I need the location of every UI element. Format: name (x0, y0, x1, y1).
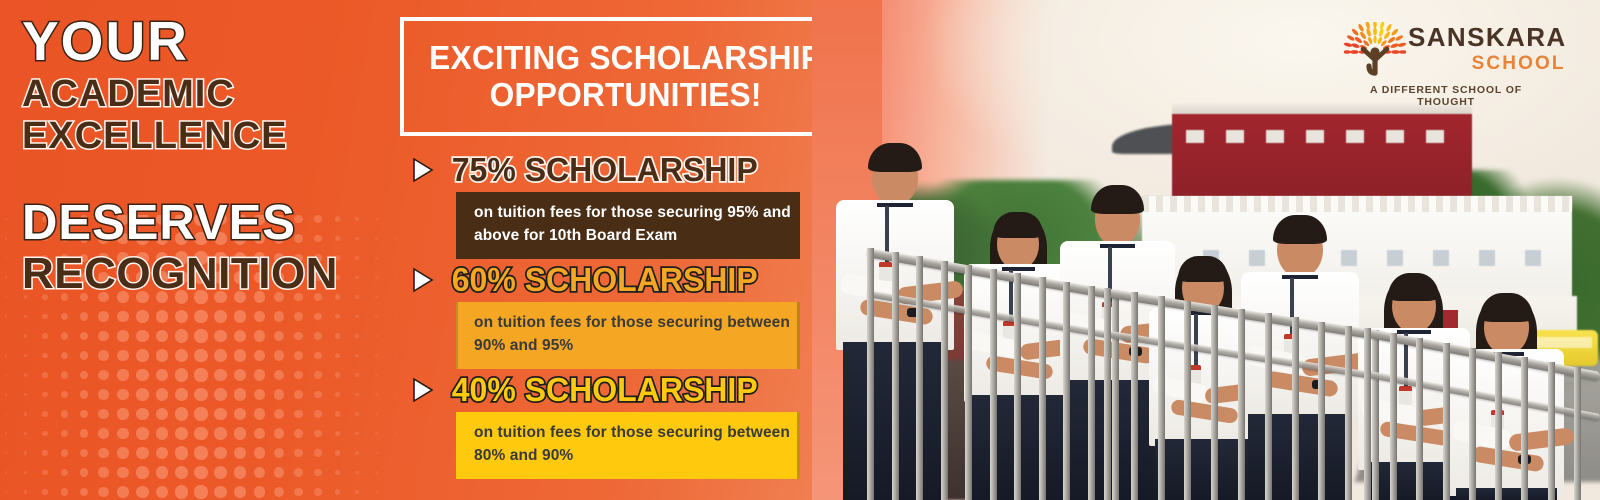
tier-label: 75% SCHOLARSHIP (452, 151, 758, 189)
building-roofline (1142, 196, 1572, 212)
logo-name: SANSKARA (1408, 24, 1567, 50)
headline-line-4: DESERVES (22, 199, 392, 248)
tier-label: 40% SCHOLARSHIP (452, 371, 758, 409)
headline-line-3: EXCELLENCE (22, 117, 392, 155)
promo-title-line-1: EXCITING SCHOLARSHIP (430, 39, 823, 76)
tier-header: 40% SCHOLARSHIP (398, 368, 868, 412)
sanskara-school-logo[interactable]: SANSKARA SCHOOL A DIFFERENT SCHOOL OF TH… (1340, 20, 1552, 102)
scholarship-column: EXCITING SCHOLARSHIP OPPORTUNITIES! 75% … (398, 0, 868, 500)
play-triangle-icon (412, 267, 434, 293)
logo-wordmark: SANSKARA SCHOOL (1408, 24, 1567, 73)
tier-header: 75% SCHOLARSHIP (398, 148, 868, 192)
tier-header: 60% SCHOLARSHIP (398, 258, 868, 302)
logo-subname: SCHOOL (1408, 54, 1567, 73)
tier-description: on tuition fees for those securing betwe… (456, 412, 800, 479)
play-triangle-icon (412, 377, 434, 403)
scholarship-tier-60: 60% SCHOLARSHIP on tuition fees for thos… (398, 258, 868, 369)
headline-line-2: ACADEMIC (22, 75, 392, 113)
sanskara-tree-person-icon (1344, 22, 1406, 82)
headline-line-5: RECOGNITION (22, 252, 392, 296)
promo-title: EXCITING SCHOLARSHIP OPPORTUNITIES! (430, 40, 823, 114)
building-upper-red-block (1172, 112, 1472, 198)
promo-title-box: EXCITING SCHOLARSHIP OPPORTUNITIES! (400, 17, 852, 136)
tier-description: on tuition fees for those securing 95% a… (456, 192, 800, 259)
play-triangle-icon (412, 157, 434, 183)
scholarship-promo-banner: YOUR ACADEMIC EXCELLENCE DESERVES RECOGN… (0, 0, 1600, 500)
headline-block: YOUR ACADEMIC EXCELLENCE DESERVES RECOGN… (22, 14, 392, 296)
tier-description: on tuition fees for those securing betwe… (456, 302, 800, 369)
logo-tagline: A DIFFERENT SCHOOL OF THOUGHT (1342, 84, 1550, 108)
promo-title-line-2: OPPORTUNITIES! (490, 76, 762, 113)
scholarship-tier-40: 40% SCHOLARSHIP on tuition fees for thos… (398, 368, 868, 479)
tier-label: 60% SCHOLARSHIP (452, 261, 758, 299)
headline-line-1: YOUR (22, 14, 392, 69)
scholarship-tier-75: 75% SCHOLARSHIP on tuition fees for thos… (398, 148, 868, 259)
